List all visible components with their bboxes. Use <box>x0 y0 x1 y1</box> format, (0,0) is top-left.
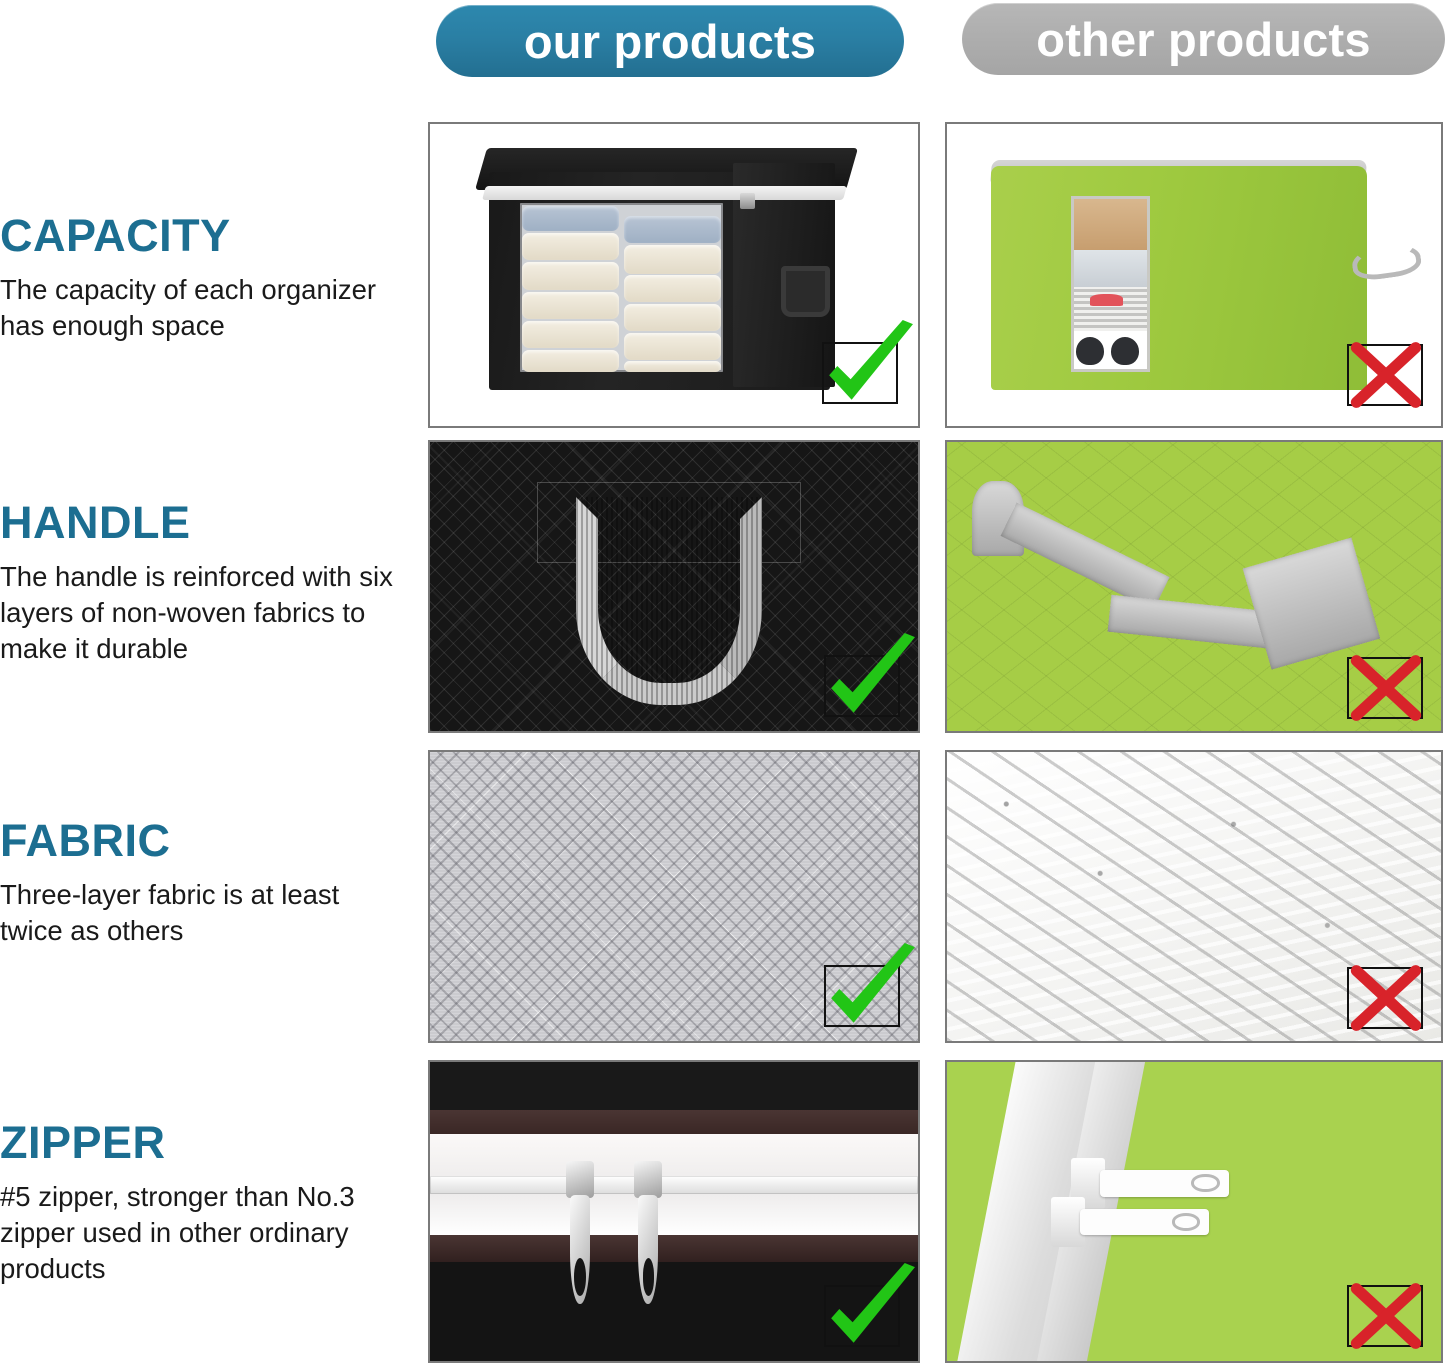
panel-zipper-ours <box>428 1060 920 1363</box>
panel-capacity-ours <box>428 122 920 428</box>
feature-title: FABRIC <box>0 818 420 863</box>
zipper-pull <box>1100 1170 1228 1197</box>
feature-title: ZIPPER <box>0 1120 420 1165</box>
panel-fabric-ours <box>428 750 920 1043</box>
panel-handle-others <box>945 440 1443 733</box>
image-thin-fabric <box>947 752 1441 1041</box>
bag-side-handle <box>781 266 830 317</box>
our-products-badge: our products <box>436 5 904 77</box>
zipper-pull <box>1080 1209 1208 1236</box>
panel-zipper-others <box>945 1060 1443 1363</box>
feature-text-handle: HANDLE The handle is reinforced with six… <box>0 500 420 666</box>
feature-description: #5 zipper, stronger than No.3 zipper use… <box>0 1179 395 1286</box>
feature-title: CAPACITY <box>0 213 420 258</box>
image-black-storage-bag <box>430 124 918 426</box>
image-plastic-zipper <box>947 1062 1441 1361</box>
bag-view-window <box>520 203 723 372</box>
panel-capacity-others <box>945 122 1443 428</box>
cross-badge <box>1347 1285 1423 1347</box>
feature-title: HANDLE <box>0 500 420 545</box>
image-metal-zipper <box>430 1062 918 1361</box>
cross-badge <box>1347 967 1423 1029</box>
handle-strap <box>576 497 761 705</box>
image-thick-fabric <box>430 752 918 1041</box>
our-products-label: our products <box>524 18 816 65</box>
image-reinforced-handle <box>430 442 918 731</box>
feature-text-fabric: FABRIC Three-layer fabric is at least tw… <box>0 818 420 949</box>
feature-description: The capacity of each organizer has enoug… <box>0 272 390 344</box>
feature-text-zipper: ZIPPER #5 zipper, stronger than No.3 zip… <box>0 1120 420 1286</box>
panel-handle-ours <box>428 440 920 733</box>
image-torn-strap <box>947 442 1441 731</box>
feature-text-capacity: CAPACITY The capacity of each organizer … <box>0 213 420 344</box>
panel-fabric-others <box>945 750 1443 1043</box>
feature-description: Three-layer fabric is at least twice as … <box>0 877 390 949</box>
feature-description: The handle is reinforced with six layers… <box>0 559 420 666</box>
check-badge <box>824 655 900 717</box>
check-badge <box>824 965 900 1027</box>
detached-strap <box>972 477 1377 697</box>
zipper-pull <box>564 1161 595 1305</box>
cross-badge <box>1347 657 1423 719</box>
zipper-pull <box>633 1161 664 1305</box>
image-green-storage-bag <box>947 124 1441 426</box>
comparison-infographic: our products other products CAPACITY The… <box>0 0 1445 1366</box>
check-badge <box>824 1285 900 1347</box>
cross-badge <box>1347 344 1423 406</box>
bag-view-window <box>1071 196 1150 371</box>
other-products-badge: other products <box>962 3 1445 75</box>
other-products-label: other products <box>1036 16 1370 63</box>
check-badge <box>822 342 898 404</box>
